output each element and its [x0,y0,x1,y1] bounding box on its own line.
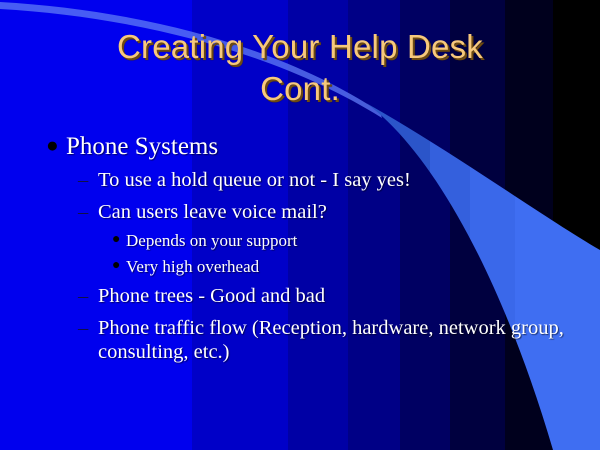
presentation-slide: Creating Your Help Desk Cont. ● Phone Sy… [0,0,600,450]
bullet-level3: ● Depends on your support [112,231,600,251]
bullet-disc-icon: ● [112,257,126,275]
bullet-text: Phone traffic flow (Reception, hardware,… [98,317,600,365]
bullet-level1: ● Phone Systems [46,133,600,161]
bullet-level2: – Phone traffic flow (Reception, hardwar… [78,317,600,365]
bullet-text: Phone Systems [66,133,600,161]
bullet-level2: – To use a hold queue or not - I say yes… [78,169,600,193]
bullet-dash-icon: – [78,285,98,309]
bullet-text: Can users leave voice mail? [98,201,600,225]
bullet-dash-icon: – [78,201,98,225]
bullet-text: Phone trees - Good and bad [98,285,600,309]
bullet-level2: – Can users leave voice mail? [78,201,600,225]
slide-title: Creating Your Help Desk Cont. [0,26,600,110]
bullet-text: Depends on your support [126,231,600,251]
bullet-dash-icon: – [78,317,98,341]
bullet-level2: – Phone trees - Good and bad [78,285,600,309]
bullet-disc-icon: ● [112,231,126,249]
bullet-disc-icon: ● [46,133,66,158]
bullet-dash-icon: – [78,169,98,193]
bullet-text: Very high overhead [126,257,600,277]
bullet-text: To use a hold queue or not - I say yes! [98,169,600,193]
bullet-level3: ● Very high overhead [112,257,600,277]
slide-body-list: ● Phone Systems – To use a hold queue or… [0,133,600,365]
